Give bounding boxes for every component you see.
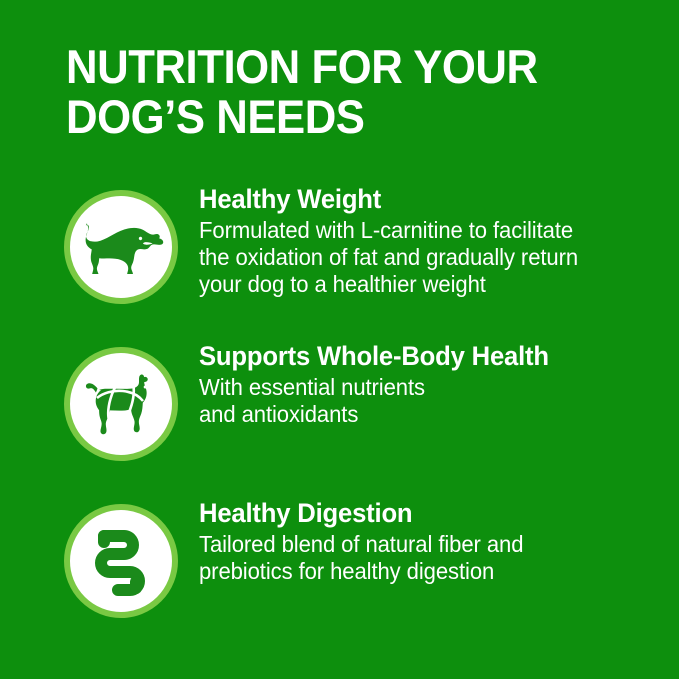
- feature-body: With essential nutrients and antioxidant…: [199, 374, 643, 428]
- feature-text-block: Supports Whole-Body Health With essentia…: [199, 341, 661, 428]
- feature-list: Healthy Weight Formulated with L-carniti…: [0, 176, 679, 647]
- page-title-line-2: DOG’S NEEDS: [66, 92, 587, 142]
- intestine-icon: [90, 524, 152, 598]
- feature-heading: Healthy Digestion: [199, 498, 638, 529]
- feature-item-healthy-digestion: Healthy Digestion Tailored blend of natu…: [0, 490, 679, 647]
- nutrition-benefits-poster: NUTRITION FOR YOUR DOG’S NEEDS Healthy: [0, 0, 679, 679]
- feature-text-block: Healthy Weight Formulated with L-carniti…: [199, 184, 661, 298]
- page-title: NUTRITION FOR YOUR DOG’S NEEDS: [66, 42, 626, 142]
- feature-heading: Supports Whole-Body Health: [199, 341, 638, 372]
- page-title-line-1: NUTRITION FOR YOUR: [66, 42, 587, 92]
- feature-item-whole-body-health: Supports Whole-Body Health With essentia…: [0, 333, 679, 490]
- feature-body: Formulated with L-carnitine to facilitat…: [199, 217, 643, 298]
- leaping-dog-icon: [78, 220, 164, 274]
- feature-heading: Healthy Weight: [199, 184, 638, 215]
- feature-body: Tailored blend of natural fiber and preb…: [199, 531, 643, 585]
- feature-text-block: Healthy Digestion Tailored blend of natu…: [199, 498, 661, 585]
- feature-icon-badge: [64, 190, 178, 304]
- feature-item-healthy-weight: Healthy Weight Formulated with L-carniti…: [0, 176, 679, 333]
- dog-with-orbit-icon: [83, 372, 159, 436]
- feature-icon-badge: [64, 347, 178, 461]
- feature-icon-badge: [64, 504, 178, 618]
